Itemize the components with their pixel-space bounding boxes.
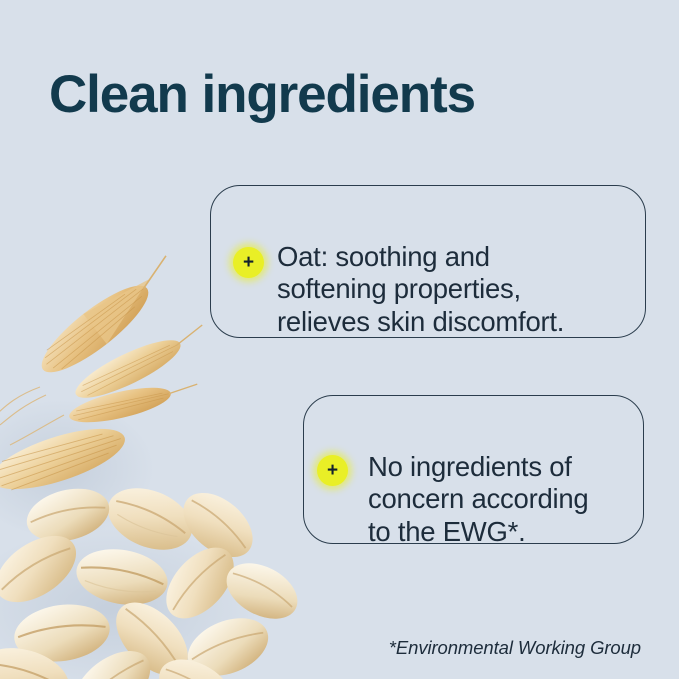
plus-icon: + xyxy=(317,455,348,486)
footnote: *Environmental Working Group xyxy=(389,636,641,660)
plus-icon: + xyxy=(233,247,264,278)
fact-card-ewg-claim: + No ingredients of concern according to… xyxy=(303,395,644,544)
page-title: Clean ingredients xyxy=(49,64,649,126)
fact-card-ewg-claim-text: No ingredients of concern according to t… xyxy=(368,451,640,549)
fact-card-oat-benefit: + Oat: soothing and softening properties… xyxy=(210,185,646,338)
product-benefits-panel: Clean ingredients + Oat: soothing and so… xyxy=(0,0,679,679)
fact-card-oat-benefit-text: Oat: soothing and softening properties, … xyxy=(277,241,637,339)
